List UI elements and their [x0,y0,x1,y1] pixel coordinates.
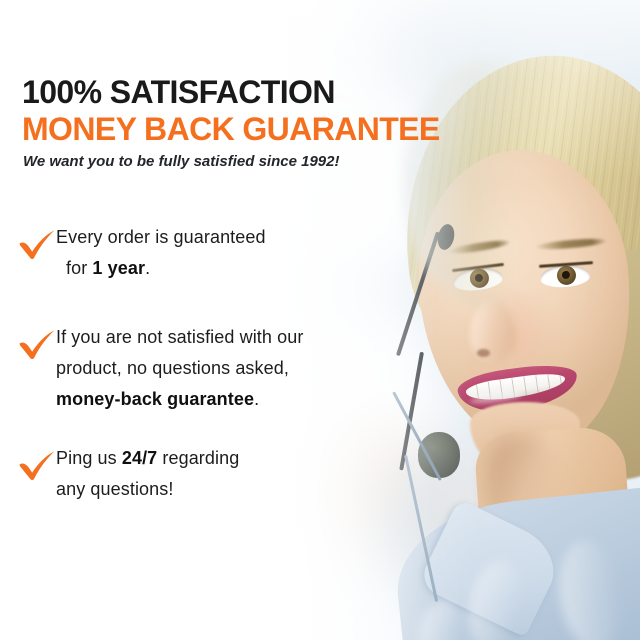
list-item: Every order is guaranteed for 1 year. [0,222,400,284]
headline-line-1: 100% SATISFACTION [22,76,335,108]
list-item-text: If you are not satisfied with our produc… [56,322,303,415]
subheadline: We want you to be fully satisfied since … [23,154,339,169]
list-item-line: Every order is guaranteed [56,222,266,253]
list-item-line: If you are not satisfied with our [56,322,303,353]
list-item-line: any questions! [56,474,239,505]
money-back-guarantee-banner: 100% SATISFACTION MONEY BACK GUARANTEE W… [0,0,640,640]
line-suffix: regarding [157,448,239,468]
banner-content: 100% SATISFACTION MONEY BACK GUARANTEE W… [0,0,640,640]
line-suffix: . [254,389,259,409]
list-item-line: Ping us 24/7 regarding [56,443,239,474]
list-item-text: Every order is guaranteed for 1 year. [56,222,266,284]
orange-checkmark-icon [0,443,56,481]
headline-line-2: MONEY BACK GUARANTEE [22,113,440,145]
line-emphasis: 1 year [92,258,145,278]
line-emphasis: money-back guarantee [56,389,254,409]
line-prefix: Ping us [56,448,122,468]
list-item-line: for 1 year. [56,253,266,284]
list-item-text: Ping us 24/7 regarding any questions! [56,443,239,505]
orange-checkmark-icon [0,222,56,260]
list-item: If you are not satisfied with our produc… [0,322,400,415]
orange-checkmark-icon [0,322,56,360]
list-item: Ping us 24/7 regarding any questions! [0,443,400,505]
list-item-line: money-back guarantee. [56,384,303,415]
line-emphasis: 24/7 [122,448,157,468]
list-item-line: product, no questions asked, [56,353,303,384]
line-prefix: for [66,258,92,278]
line-suffix: . [145,258,150,278]
benefits-checklist: Every order is guaranteed for 1 year. If… [0,222,400,505]
